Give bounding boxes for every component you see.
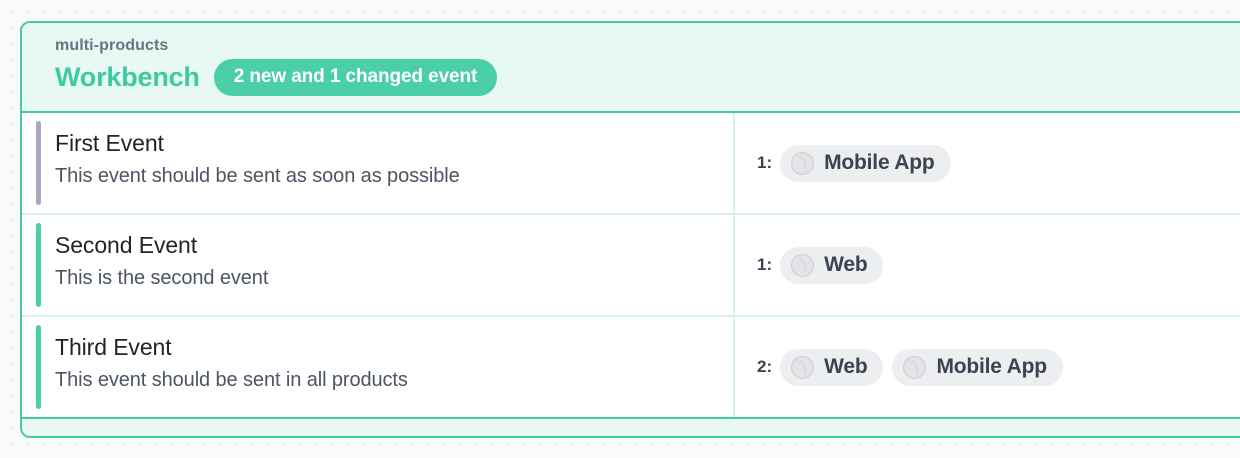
table-row[interactable]: First EventThis event should be sent as … bbox=[22, 113, 1240, 215]
product-badge[interactable]: Mobile App bbox=[892, 349, 1062, 386]
row-status-accent-bar bbox=[36, 325, 41, 409]
workbench-card: multi-products Workbench 2 new and 1 cha… bbox=[20, 21, 1240, 438]
event-description: This event should be sent in all product… bbox=[55, 367, 717, 393]
avatar-placeholder-icon bbox=[902, 355, 927, 380]
event-products-cell: 2:WebMobile App bbox=[735, 317, 1240, 417]
card-title-row: Workbench 2 new and 1 changed event bbox=[55, 59, 1240, 96]
row-accent-cell bbox=[22, 317, 55, 417]
product-count-label: 2: bbox=[757, 357, 772, 377]
event-title: First Event bbox=[55, 129, 717, 159]
card-header: multi-products Workbench 2 new and 1 cha… bbox=[22, 23, 1240, 113]
table-row[interactable]: Second EventThis is the second event1:We… bbox=[22, 215, 1240, 317]
row-status-accent-bar bbox=[36, 121, 41, 205]
row-accent-cell bbox=[22, 215, 55, 315]
event-description: This is the second event bbox=[55, 265, 717, 291]
product-badge[interactable]: Web bbox=[780, 349, 883, 386]
page-title: Workbench bbox=[55, 62, 200, 93]
event-products-cell: 1:Mobile App bbox=[735, 113, 1240, 213]
event-title: Second Event bbox=[55, 231, 717, 261]
event-name-cell: Second EventThis is the second event bbox=[55, 215, 735, 315]
product-count-label: 1: bbox=[757, 255, 772, 275]
product-badge-label: Web bbox=[824, 355, 867, 379]
card-footer bbox=[22, 417, 1240, 438]
table-row[interactable]: Third EventThis event should be sent in … bbox=[22, 317, 1240, 417]
product-badge-label: Mobile App bbox=[824, 151, 934, 175]
row-accent-cell bbox=[22, 113, 55, 213]
product-badge-group: WebMobile App bbox=[780, 349, 1063, 386]
avatar-placeholder-icon bbox=[790, 151, 815, 176]
avatar-placeholder-icon bbox=[790, 253, 815, 278]
product-badge-group: Mobile App bbox=[780, 145, 950, 182]
event-name-cell: Third EventThis event should be sent in … bbox=[55, 317, 735, 417]
product-badge-label: Web bbox=[824, 253, 867, 277]
event-title: Third Event bbox=[55, 333, 717, 363]
event-name-cell: First EventThis event should be sent as … bbox=[55, 113, 735, 213]
product-badge-label: Mobile App bbox=[936, 355, 1046, 379]
event-description: This event should be sent as soon as pos… bbox=[55, 163, 717, 189]
product-badge[interactable]: Web bbox=[780, 247, 883, 284]
event-products-cell: 1:Web bbox=[735, 215, 1240, 315]
status-badge: 2 new and 1 changed event bbox=[214, 59, 498, 96]
avatar-placeholder-icon bbox=[790, 355, 815, 380]
card-eyebrow: multi-products bbox=[55, 35, 1240, 57]
row-status-accent-bar bbox=[36, 223, 41, 307]
product-badge-group: Web bbox=[780, 247, 883, 284]
product-badge[interactable]: Mobile App bbox=[780, 145, 950, 182]
event-rows: First EventThis event should be sent as … bbox=[22, 113, 1240, 417]
product-count-label: 1: bbox=[757, 153, 772, 173]
